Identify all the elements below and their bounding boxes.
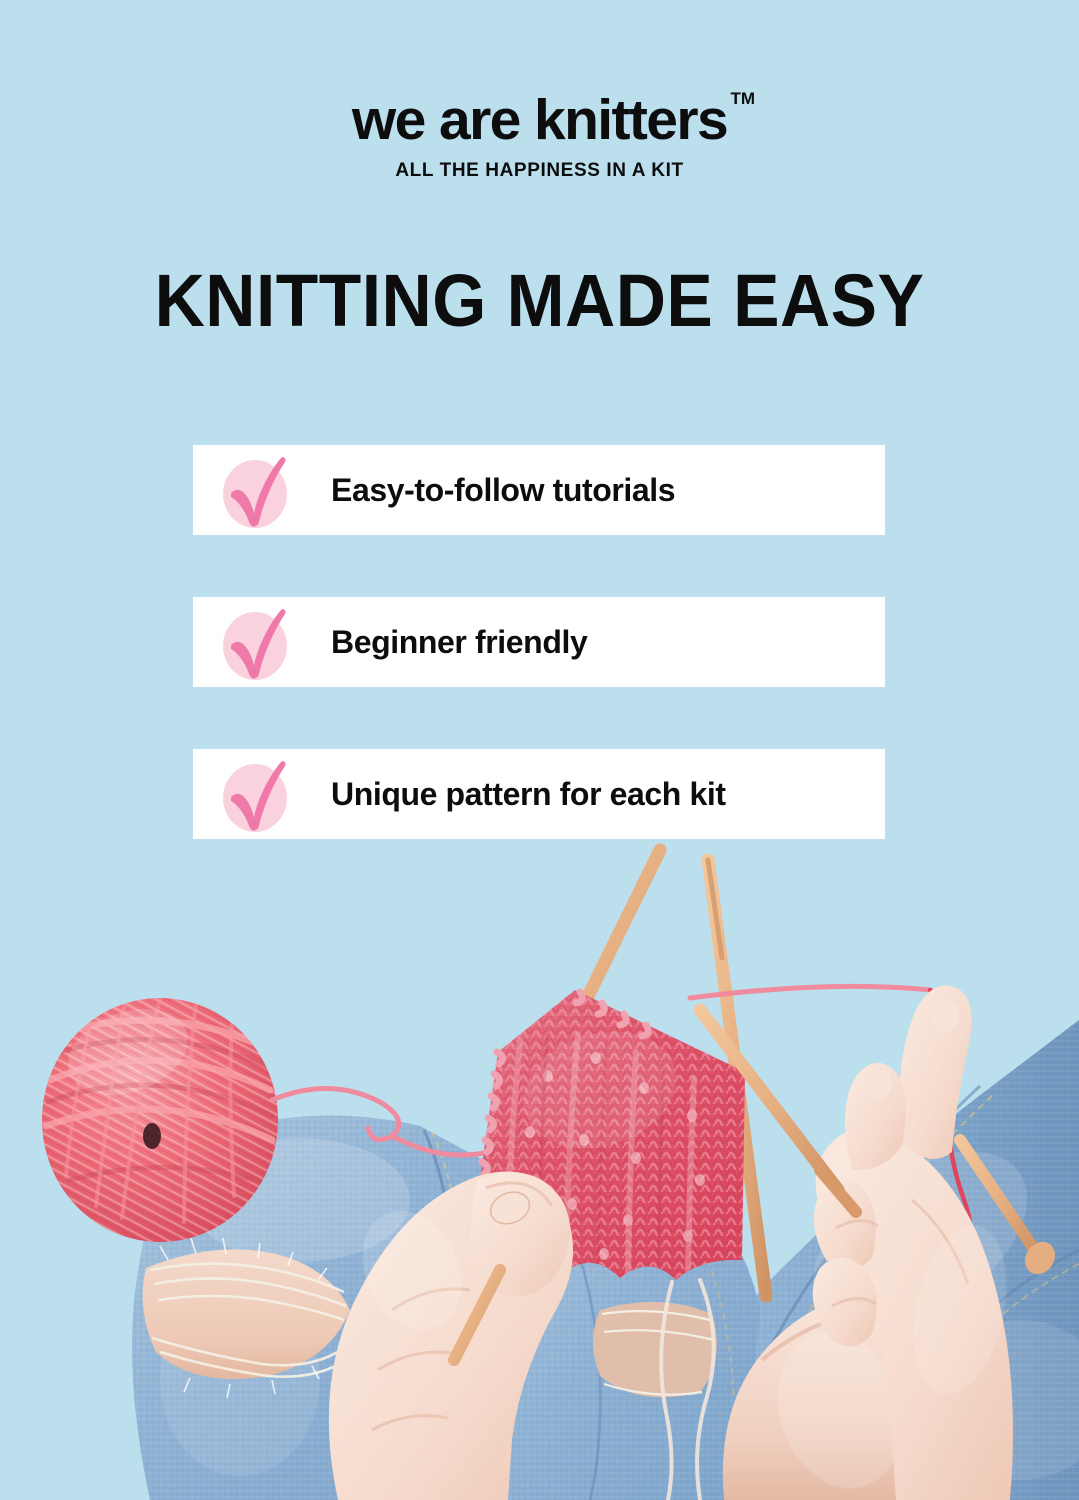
feature-card: Unique pattern for each kit [193,749,885,839]
brand-tagline: ALL THE HAPPINESS IN A KIT [0,160,1079,182]
feature-label: Beginner friendly [331,624,587,661]
check-icon [221,756,293,832]
feature-list: Easy-to-follow tutorials Beginner friend… [193,445,885,839]
check-icon [221,452,293,528]
poster-root: we are knitters TM ALL THE HAPPINESS IN … [0,0,1079,1500]
knitting-photo [0,840,1079,1500]
trademark-icon: TM [731,90,756,107]
page-title: KNITTING MADE EASY [32,264,1046,338]
check-icon [221,604,293,680]
brand-wordmark-text: we are knitters [352,88,727,152]
feature-label: Unique pattern for each kit [331,776,726,813]
brand-wordmark: we are knitters TM [352,92,727,149]
brand-logo: we are knitters TM ALL THE HAPPINESS IN … [0,92,1079,182]
feature-card: Easy-to-follow tutorials [193,445,885,535]
feature-label: Easy-to-follow tutorials [331,472,675,509]
feature-card: Beginner friendly [193,597,885,687]
